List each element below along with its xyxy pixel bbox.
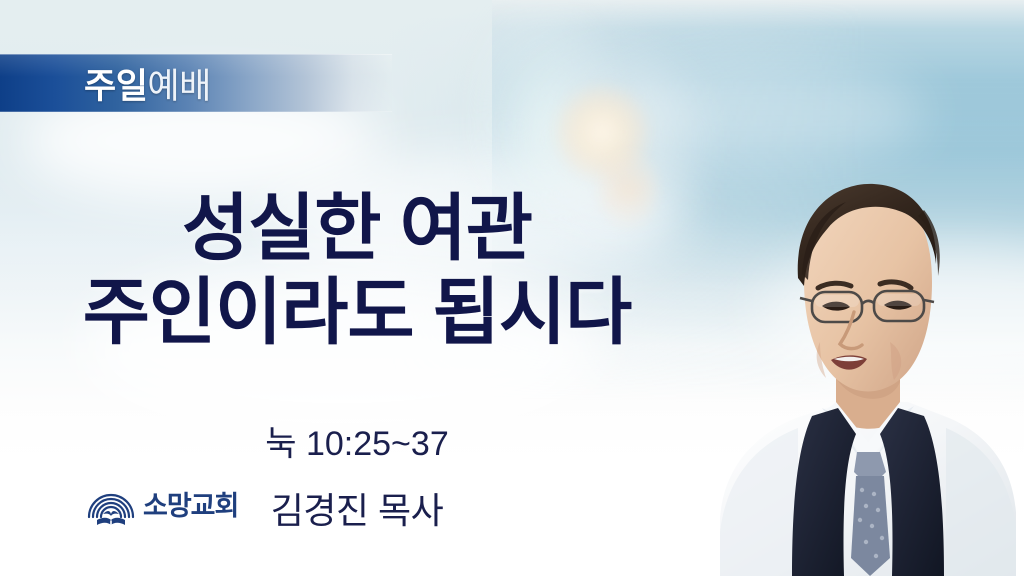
church-logo: 소망교회 — [86, 483, 238, 529]
church-name: 소망교회 — [143, 493, 238, 520]
church-emblem-icon — [86, 483, 136, 529]
sermon-title-line-2: 주인이라도 됩시다 — [0, 274, 714, 353]
sermon-title-slide: 주일예배 성실한 여관 주인이라도 됩시다 눅 10:25~37 김경진 목사 — [0, 0, 1024, 576]
worship-type-label: 주일예배 — [84, 54, 211, 112]
scripture-reference: 눅 10:25~37 — [0, 416, 1024, 465]
sermon-title-line-1: 성실한 여관 — [0, 190, 714, 269]
worship-type-label-light: 예배 — [147, 58, 210, 109]
worship-type-label-bold: 주일 — [84, 58, 147, 109]
sermon-title: 성실한 여관 주인이라도 됩시다 — [0, 190, 1024, 353]
